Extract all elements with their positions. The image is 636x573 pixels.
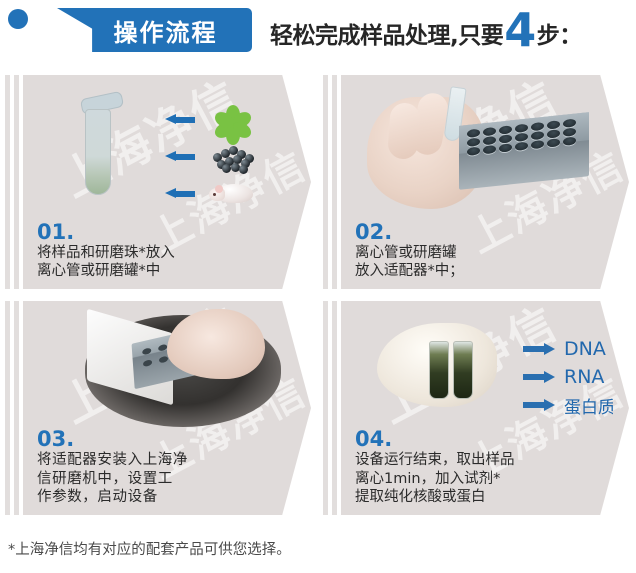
- centrifuge-tube-icon: [85, 109, 111, 195]
- right-arrow-icon: [523, 371, 555, 383]
- footnote-text: *上海净信均有对应的配套产品可供您选择。: [8, 538, 291, 559]
- right-arrow-icon: [523, 343, 555, 355]
- step-04-caption: 04. 设备运行结束，取出样品 离心1min，加入试剂* 提取纯化核酸或蛋白: [355, 428, 589, 507]
- step-number: 02.: [355, 221, 589, 243]
- step-card: 上海净信 上海净信: [341, 75, 629, 289]
- stripe-decoration: [323, 75, 328, 289]
- mouse-eye: [213, 193, 216, 196]
- hand-icon: [167, 309, 265, 379]
- steps-grid: 上海净信 上海净信: [0, 70, 636, 520]
- stripe-decoration: [332, 301, 337, 515]
- step-description: 设备运行结束，取出样品 离心1min，加入试剂* 提取纯化核酸或蛋白: [355, 451, 589, 507]
- step-description: 离心管或研磨罐 放入适配器*中；: [355, 244, 589, 281]
- section-title-text: 操作流程: [92, 13, 218, 48]
- step-number: 04.: [355, 428, 589, 450]
- header: 操作流程 轻松完成样品处理,只要 4 步：: [0, 0, 636, 66]
- adapter-block-icon: [459, 112, 589, 190]
- output-row-dna: DNA: [523, 335, 613, 363]
- mouse-ear: [215, 185, 223, 193]
- step-number: 01.: [37, 221, 271, 243]
- stripe-decoration: [14, 75, 19, 289]
- stripe-decoration: [14, 301, 19, 515]
- header-tagline: 轻松完成样品处理,只要 4 步：: [270, 8, 582, 56]
- left-arrow-icon: [165, 114, 195, 125]
- tagline-prefix: 轻松完成样品处理,只要: [270, 16, 503, 50]
- step-description: 将适配器安装入上海净 信研磨机中，设置工 作参数，启动设备: [37, 451, 271, 507]
- stripe-decoration: [5, 301, 10, 515]
- sample-vial-icon: [429, 341, 449, 399]
- mouse-icon: [209, 179, 255, 205]
- output-list: DNA RNA 蛋白质: [523, 335, 613, 419]
- output-row-protein: 蛋白质: [523, 391, 613, 419]
- step-description: 将样品和研磨珠*放入 离心管或研磨罐*中: [37, 244, 271, 281]
- section-title-banner: 操作流程: [57, 8, 252, 52]
- output-row-rna: RNA: [523, 363, 613, 391]
- step-card: 上海净信 上海净信 DNA RNA: [341, 301, 629, 515]
- decorative-dot-icon: [8, 9, 28, 29]
- step-panel-03: 上海净信 上海净信: [0, 296, 318, 520]
- step-01-illustration: [53, 89, 293, 217]
- step-03-illustration: [85, 307, 285, 431]
- left-arrow-icon: [165, 188, 195, 199]
- step-card: 上海净信 上海净信: [23, 75, 311, 289]
- step-card: 上海净信 上海净信: [23, 301, 311, 515]
- stripe-decoration: [323, 301, 328, 515]
- step-panel-02: 上海净信 上海净信: [318, 70, 636, 294]
- step-panel-01: 上海净信 上海净信: [0, 70, 318, 294]
- grinding-beads-icon: [211, 144, 255, 170]
- stripe-decoration: [5, 75, 10, 289]
- step-01-caption: 01. 将样品和研磨珠*放入 离心管或研磨罐*中: [37, 221, 271, 281]
- left-arrow-icon: [165, 151, 195, 162]
- step-02-illustration: [361, 83, 611, 219]
- step-02-caption: 02. 离心管或研磨罐 放入适配器*中；: [355, 221, 589, 281]
- step-count-number: 4: [504, 11, 536, 50]
- leaf-icon: [213, 101, 253, 135]
- output-label: RNA: [564, 366, 604, 388]
- step-panel-04: 上海净信 上海净信 DNA RNA: [318, 296, 636, 520]
- sample-vial-icon: [453, 341, 473, 399]
- output-label: DNA: [564, 338, 606, 360]
- tagline-suffix: 步：: [537, 16, 582, 50]
- right-arrow-icon: [523, 399, 555, 411]
- output-label: 蛋白质: [564, 393, 613, 418]
- step-04-illustration: DNA RNA 蛋白质: [373, 311, 613, 427]
- infographic-page: 操作流程 轻松完成样品处理,只要 4 步： 上海净信 上海净信: [0, 0, 636, 573]
- stripe-decoration: [332, 75, 337, 289]
- step-number: 03.: [37, 428, 271, 450]
- step-03-caption: 03. 将适配器安装入上海净 信研磨机中，设置工 作参数，启动设备: [37, 428, 271, 507]
